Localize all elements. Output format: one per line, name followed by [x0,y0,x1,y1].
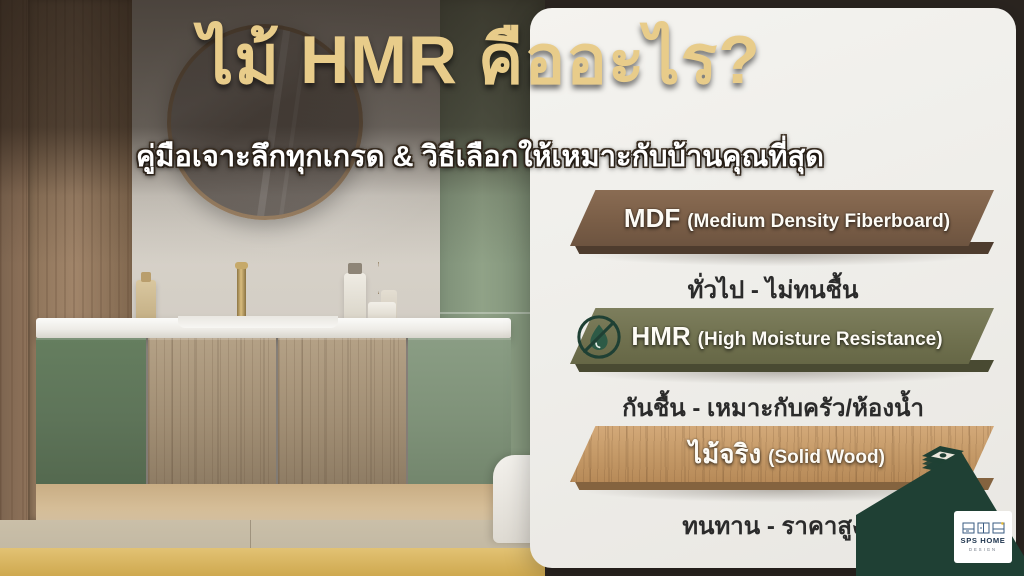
material-caption-hmr: กันชื้น - เหมาะกับครัว/ห้องน้ำ [530,388,1016,427]
brand-logo[interactable]: SPS HOME DESIGN [954,511,1012,563]
board-label-mdf: MDF (Medium Density Fiberboard) [614,203,950,234]
brand-corner: SPS HOME DESIGN [856,452,1024,576]
logo-subtitle: DESIGN [969,547,997,552]
board-surface: MDF (Medium Density Fiberboard) [570,190,994,246]
cabinet-icon-2 [977,522,990,534]
board-surface: HMR (High Moisture Resistance) [570,308,994,364]
cabinet-icon-1 [962,522,975,534]
material-row-hmr[interactable]: HMR (High Moisture Resistance) กันชื้น -… [530,308,1016,426]
board-label-hmr: HMR (High Moisture Resistance) [621,321,942,352]
board-hmr: HMR (High Moisture Resistance) [570,308,994,380]
board-label-solid-wood: ไม้จริง (Solid Wood) [679,434,885,475]
board-mdf: MDF (Medium Density Fiberboard) [570,190,994,262]
board-name: HMR [631,321,690,352]
board-name-en: (High Moisture Resistance) [698,329,943,351]
board-name: MDF [624,203,680,234]
board-drop-shadow [584,372,978,384]
material-row-mdf[interactable]: MDF (Medium Density Fiberboard) ทั่วไป -… [530,190,1016,308]
logo-furniture-marks [962,522,1005,534]
cabinet-icon-3 [992,522,1005,534]
page-title: ไม้ HMR คืออะไร? [0,24,960,96]
no-water-drop-icon [576,314,622,360]
board-name-en: (Medium Density Fiberboard) [687,211,950,233]
material-caption-mdf: ทั่วไป - ไม่ทนชื้น [530,270,1016,309]
board-drop-shadow [584,254,978,266]
board-name: ไม้จริง [689,434,761,475]
logo-name: SPS HOME [961,536,1006,545]
page-subtitle: คู่มือเจาะลึกทุกเกรด & วิธีเลือกให้เหมาะ… [0,133,960,179]
infographic-canvas: ไม้ HMR คืออะไร? ไม้ HMR คืออะไร? คู่มือ… [0,0,1024,576]
